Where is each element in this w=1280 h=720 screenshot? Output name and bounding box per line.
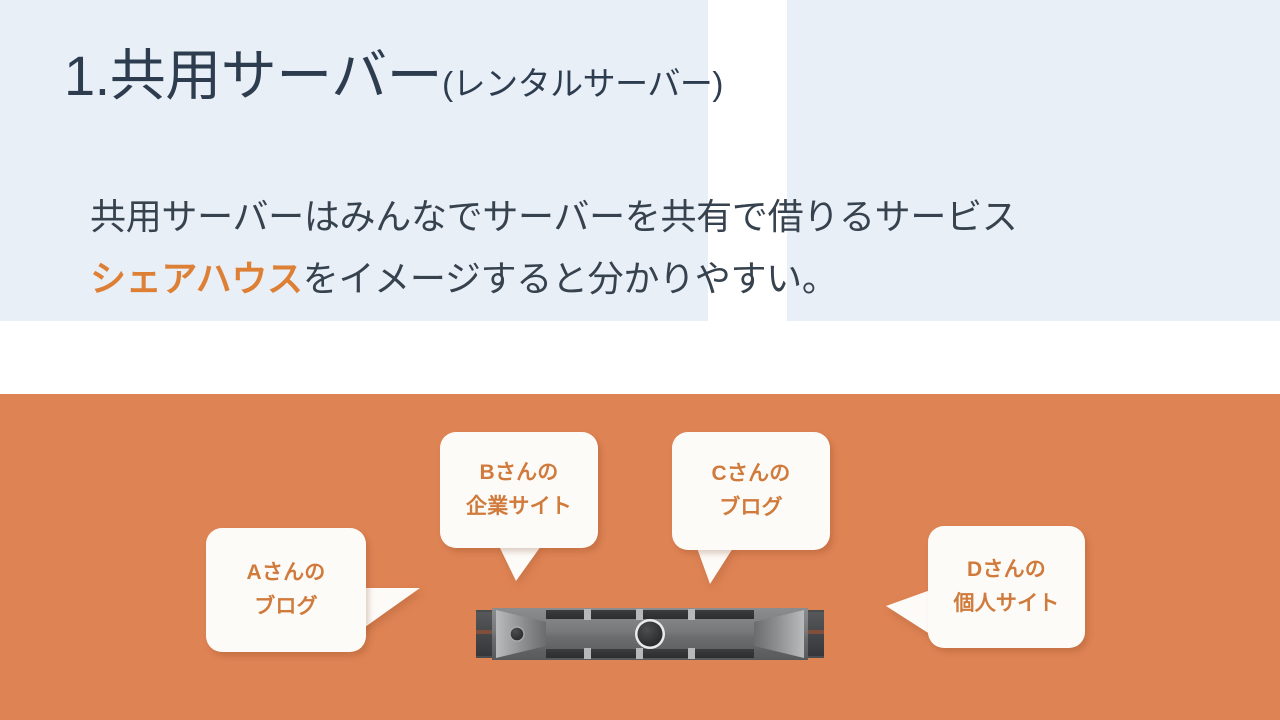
body-line-2: シェアハウスをイメージすると分かりやすい。 [90,248,1017,310]
bubble-d-line-1: Dさんの [967,553,1046,587]
page-title: 1.共用サーバー(レンタルサーバー) [64,46,723,106]
speech-bubble-d[interactable]: Dさんの 個人サイト [928,526,1085,648]
slide-canvas: 1.共用サーバー(レンタルサーバー) 共用サーバーはみんなでサーバーを共有で借り… [0,0,1280,720]
speech-bubble-b[interactable]: Bさんの 企業サイト [440,432,598,548]
speech-bubble-c[interactable]: Cさんの ブログ [672,432,830,550]
illustration-panel [0,394,1280,720]
body-line-1: 共用サーバーはみんなでサーバーを共有で借りるサービス [90,186,1017,248]
bubble-tail-a [358,588,420,632]
bubble-b-line-1: Bさんの [480,456,559,490]
speech-bubble-a[interactable]: Aさんの ブログ [206,528,366,652]
body-line-2-rest: をイメージすると分かりやすい。 [303,258,838,299]
bubble-c-line-1: Cさんの [712,457,791,491]
bubble-a-line-1: Aさんの [247,556,326,590]
bubble-a-line-2: ブログ [254,590,318,624]
body-paragraph: 共用サーバーはみんなでサーバーを共有で借りるサービス シェアハウスをイメージする… [90,186,1017,310]
bubble-b-line-2: 企業サイト [466,490,572,524]
bubble-d-line-2: 個人サイト [954,587,1060,621]
bubble-tail-c [697,548,733,584]
body-accent-term: シェアハウス [90,258,303,299]
bubble-c-line-2: ブログ [719,491,783,525]
rack-server-icon [476,606,824,662]
page-title-main: 1.共用サーバー [64,44,442,107]
bubble-tail-b [499,546,541,581]
page-title-subtitle: (レンタルサーバー) [442,65,723,102]
